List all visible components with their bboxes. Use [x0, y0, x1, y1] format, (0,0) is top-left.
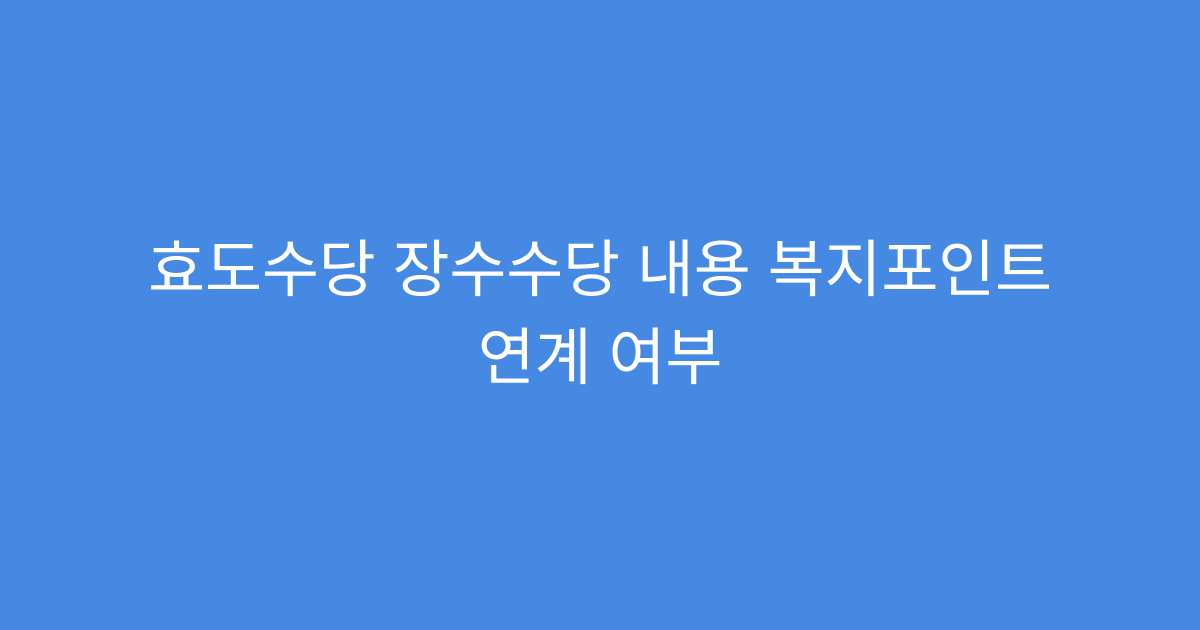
page-title: 효도수당 장수수당 내용 복지포인트 연계 여부 [115, 227, 1085, 403]
og-image-card: 효도수당 장수수당 내용 복지포인트 연계 여부 [0, 0, 1200, 630]
title-container: 효도수당 장수수당 내용 복지포인트 연계 여부 [95, 227, 1105, 403]
